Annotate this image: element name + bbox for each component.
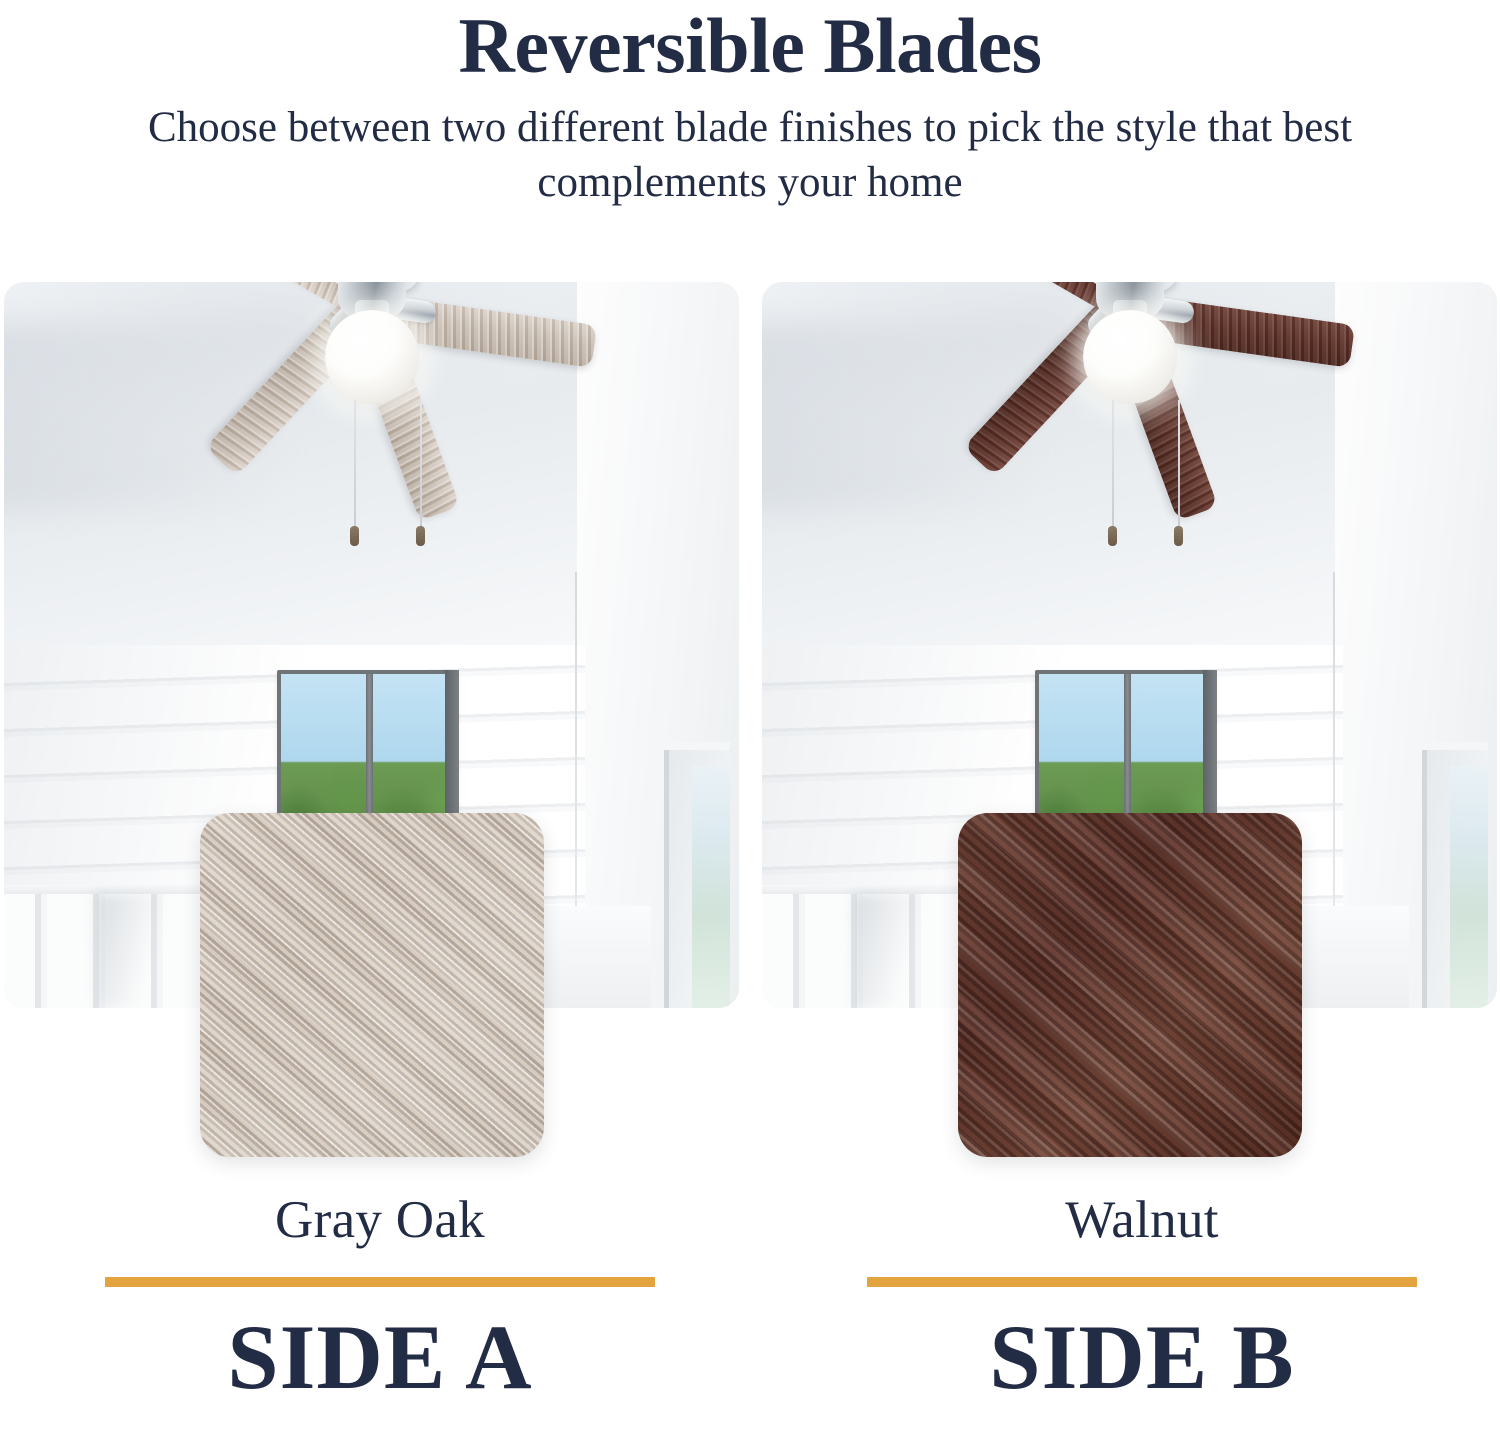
pull-chain[interactable] xyxy=(354,400,356,528)
headboard-shadow xyxy=(97,894,168,1008)
door-glass xyxy=(692,766,730,1008)
caption-side-a: Gray Oak SIDE A xyxy=(100,1193,660,1403)
finish-name-label: Walnut xyxy=(862,1193,1422,1249)
gold-divider xyxy=(867,1277,1417,1287)
headboard xyxy=(762,885,983,1008)
wood-grain-texture xyxy=(200,813,544,1157)
header: Reversible Blades Choose between two dif… xyxy=(0,0,1500,211)
walnut-wood-swatch[interactable] xyxy=(958,813,1302,1157)
door-glass xyxy=(1450,766,1488,1008)
caption-side-b: Walnut SIDE B xyxy=(862,1193,1422,1403)
finish-name-label: Gray Oak xyxy=(100,1193,660,1249)
light-globe xyxy=(325,310,419,404)
side-label: SIDE B xyxy=(862,1311,1422,1403)
page-subtitle: Choose between two different blade finis… xyxy=(135,100,1365,212)
gold-divider xyxy=(105,1277,655,1287)
gray-oak-wood-swatch[interactable] xyxy=(200,813,544,1157)
pull-chain-knob[interactable] xyxy=(416,526,425,546)
glass-door xyxy=(1422,750,1488,1008)
pull-chain-knob[interactable] xyxy=(1174,526,1183,546)
pull-chain-knob[interactable] xyxy=(1108,526,1117,546)
wood-grain-texture xyxy=(958,813,1302,1157)
side-label: SIDE A xyxy=(100,1311,660,1403)
glass-door xyxy=(664,750,730,1008)
pull-chain[interactable] xyxy=(1178,400,1180,528)
light-globe xyxy=(1083,310,1177,404)
page-title: Reversible Blades xyxy=(0,6,1500,86)
pull-chain-knob[interactable] xyxy=(350,526,359,546)
headboard xyxy=(4,885,225,1008)
pull-chain[interactable] xyxy=(1112,400,1114,528)
headboard-shadow xyxy=(855,894,926,1008)
pull-chain[interactable] xyxy=(420,400,422,528)
